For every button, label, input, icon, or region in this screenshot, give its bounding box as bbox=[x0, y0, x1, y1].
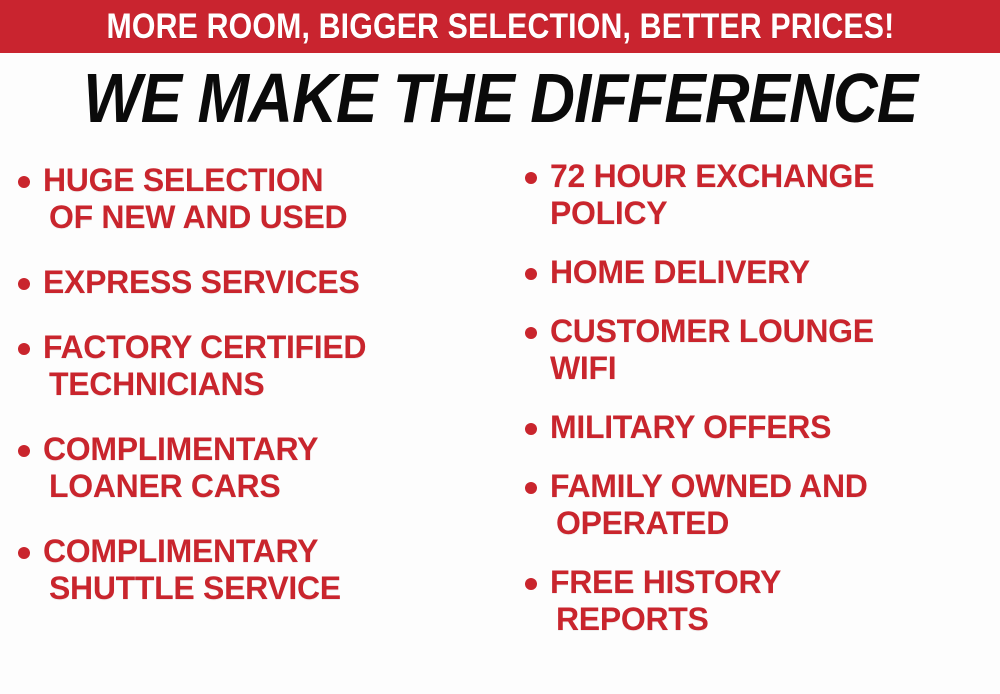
list-item-label: EXPRESS SERVICES bbox=[43, 264, 505, 301]
top-promo-strip-text: MORE ROOM, BIGGER SELECTION, BETTER PRIC… bbox=[106, 9, 894, 44]
list-item: FAMILY OWNED AND OPERATED bbox=[525, 468, 1000, 542]
list-item-line-2: TECHNICIANS bbox=[43, 366, 505, 403]
list-item-line-1: 72 HOUR EXCHANGE bbox=[550, 158, 1000, 195]
list-item: HOME DELIVERY bbox=[525, 254, 1000, 291]
list-item-line-2: SHUTTLE SERVICE bbox=[43, 570, 505, 607]
list-item-line-1: MILITARY OFFERS bbox=[550, 409, 1000, 446]
list-item-line-1: FAMILY OWNED AND bbox=[550, 468, 1000, 505]
list-item-label: 72 HOUR EXCHANGE POLICY bbox=[550, 158, 1000, 232]
list-item-label: FAMILY OWNED AND OPERATED bbox=[550, 468, 1000, 542]
bullet-dot-icon bbox=[18, 343, 30, 355]
list-item: EXPRESS SERVICES bbox=[18, 264, 505, 301]
list-item-label: COMPLIMENTARY LOANER CARS bbox=[43, 431, 505, 505]
list-item: CUSTOMER LOUNGE WIFI bbox=[525, 313, 1000, 387]
list-item-line-2: OPERATED bbox=[550, 505, 1000, 542]
list-item-label: HOME DELIVERY bbox=[550, 254, 1000, 291]
headline-block: WE MAKE THE DIFFERENCE bbox=[0, 62, 1000, 134]
list-item: COMPLIMENTARY LOANER CARS bbox=[18, 431, 505, 505]
benefits-column-right: 72 HOUR EXCHANGE POLICY HOME DELIVERY CU… bbox=[505, 152, 1000, 660]
list-item-line-1: HOME DELIVERY bbox=[550, 254, 1000, 291]
list-item-line-2: WIFI bbox=[550, 350, 1000, 387]
list-item: MILITARY OFFERS bbox=[525, 409, 1000, 446]
benefits-column-left: HUGE SELECTION OF NEW AND USED EXPRESS S… bbox=[0, 152, 505, 635]
list-item: HUGE SELECTION OF NEW AND USED bbox=[18, 162, 505, 236]
bullet-dot-icon bbox=[18, 547, 30, 559]
bullet-dot-icon bbox=[525, 172, 537, 184]
list-item: FACTORY CERTIFIED TECHNICIANS bbox=[18, 329, 505, 403]
list-item-label: MILITARY OFFERS bbox=[550, 409, 1000, 446]
bullet-dot-icon bbox=[525, 482, 537, 494]
list-item-label: FACTORY CERTIFIED TECHNICIANS bbox=[43, 329, 505, 403]
list-item-line-2: POLICY bbox=[550, 195, 1000, 232]
top-promo-strip: MORE ROOM, BIGGER SELECTION, BETTER PRIC… bbox=[0, 0, 1000, 53]
list-item-line-2: LOANER CARS bbox=[43, 468, 505, 505]
list-item-line-2: REPORTS bbox=[550, 601, 1000, 638]
bullet-dot-icon bbox=[525, 578, 537, 590]
list-item-line-1: FACTORY CERTIFIED bbox=[43, 329, 505, 366]
list-item-line-1: COMPLIMENTARY bbox=[43, 533, 505, 570]
list-item: COMPLIMENTARY SHUTTLE SERVICE bbox=[18, 533, 505, 607]
page-title: WE MAKE THE DIFFERENCE bbox=[83, 62, 917, 134]
list-item-label: FREE HISTORY REPORTS bbox=[550, 564, 1000, 638]
list-item-label: COMPLIMENTARY SHUTTLE SERVICE bbox=[43, 533, 505, 607]
promotional-banner: MORE ROOM, BIGGER SELECTION, BETTER PRIC… bbox=[0, 0, 1000, 694]
list-item-label: CUSTOMER LOUNGE WIFI bbox=[550, 313, 1000, 387]
list-item: 72 HOUR EXCHANGE POLICY bbox=[525, 158, 1000, 232]
list-item: FREE HISTORY REPORTS bbox=[525, 564, 1000, 638]
benefits-columns: HUGE SELECTION OF NEW AND USED EXPRESS S… bbox=[0, 152, 1000, 694]
list-item-line-1: COMPLIMENTARY bbox=[43, 431, 505, 468]
bullet-dot-icon bbox=[525, 268, 537, 280]
list-item-label: HUGE SELECTION OF NEW AND USED bbox=[43, 162, 505, 236]
list-item-line-1: EXPRESS SERVICES bbox=[43, 264, 505, 301]
list-item-line-2: OF NEW AND USED bbox=[43, 199, 505, 236]
bullet-dot-icon bbox=[525, 423, 537, 435]
list-item-line-1: HUGE SELECTION bbox=[43, 162, 505, 199]
bullet-dot-icon bbox=[18, 445, 30, 457]
bullet-dot-icon bbox=[18, 278, 30, 290]
list-item-line-1: FREE HISTORY bbox=[550, 564, 1000, 601]
bullet-dot-icon bbox=[18, 176, 30, 188]
bullet-dot-icon bbox=[525, 327, 537, 339]
list-item-line-1: CUSTOMER LOUNGE bbox=[550, 313, 1000, 350]
